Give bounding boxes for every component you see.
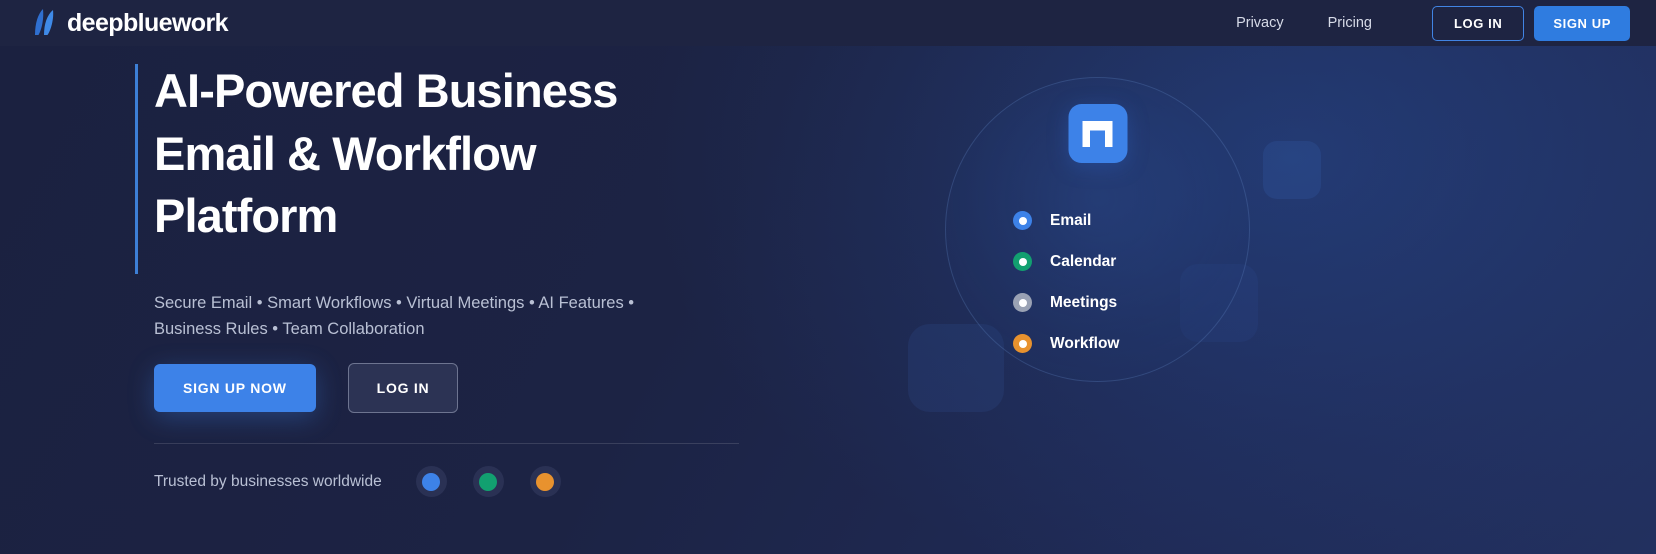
headline-block: AI-Powered Business Email & Workflow Pla… <box>135 60 755 248</box>
feature-label-meetings: Meetings <box>1050 294 1117 312</box>
decorative-square-top-right <box>1263 141 1321 199</box>
cta-row: SIGN UP NOW LOG IN <box>154 363 755 413</box>
landing-page: deepbluework Privacy Pricing LOG IN SIGN… <box>0 0 1656 554</box>
site-header: deepbluework Privacy Pricing LOG IN SIGN… <box>0 0 1656 46</box>
feature-label-email: Email <box>1050 212 1091 230</box>
radio-icon-calendar[interactable] <box>1013 252 1032 271</box>
nav-link-privacy[interactable]: Privacy <box>1214 15 1306 31</box>
header-login-button[interactable]: LOG IN <box>1432 6 1524 41</box>
arch-gate-glyph <box>1081 119 1115 149</box>
section-divider <box>154 443 739 444</box>
product-showcase: Email Calendar Meetings Workflow <box>945 77 1250 382</box>
hero-section: AI-Powered Business Email & Workflow Pla… <box>0 46 1656 554</box>
feature-label-workflow: Workflow <box>1050 335 1119 353</box>
feature-list: Email Calendar Meetings Workflow <box>1013 200 1119 364</box>
logo-text: deepbluework <box>67 11 228 36</box>
trust-dot-green <box>473 466 504 497</box>
trust-label: Trusted by businesses worldwide <box>154 473 382 491</box>
trust-dot-orange <box>530 466 561 497</box>
trust-dot-blue-fill <box>422 473 440 491</box>
feature-item-calendar[interactable]: Calendar <box>1013 241 1119 282</box>
trust-dot-orange-fill <box>536 473 554 491</box>
sail-logo-icon <box>32 8 60 38</box>
feature-item-workflow[interactable]: Workflow <box>1013 323 1119 364</box>
radio-icon-email[interactable] <box>1013 211 1032 230</box>
feature-item-email[interactable]: Email <box>1013 200 1119 241</box>
hero-subtitle: Secure Email • Smart Workflows • Virtual… <box>154 290 659 342</box>
feature-label-calendar: Calendar <box>1050 253 1116 271</box>
hero-login-button[interactable]: LOG IN <box>348 363 459 413</box>
logo[interactable]: deepbluework <box>32 8 228 38</box>
header-signup-button[interactable]: SIGN UP <box>1534 6 1630 41</box>
trust-dot-blue <box>416 466 447 497</box>
feature-item-meetings[interactable]: Meetings <box>1013 282 1119 323</box>
trust-dot-green-fill <box>479 473 497 491</box>
hero-signup-button[interactable]: SIGN UP NOW <box>154 364 316 412</box>
headline-accent-bar <box>135 64 138 274</box>
hero-content: AI-Powered Business Email & Workflow Pla… <box>135 60 755 497</box>
radio-icon-meetings[interactable] <box>1013 293 1032 312</box>
trust-dots <box>416 466 561 497</box>
arch-gate-icon <box>1068 104 1127 163</box>
header-nav: Privacy Pricing LOG IN SIGN UP <box>1214 6 1630 41</box>
nav-link-pricing[interactable]: Pricing <box>1306 15 1394 31</box>
trust-bar: Trusted by businesses worldwide <box>154 466 755 497</box>
radio-icon-workflow[interactable] <box>1013 334 1032 353</box>
page-title: AI-Powered Business Email & Workflow Pla… <box>154 60 755 248</box>
